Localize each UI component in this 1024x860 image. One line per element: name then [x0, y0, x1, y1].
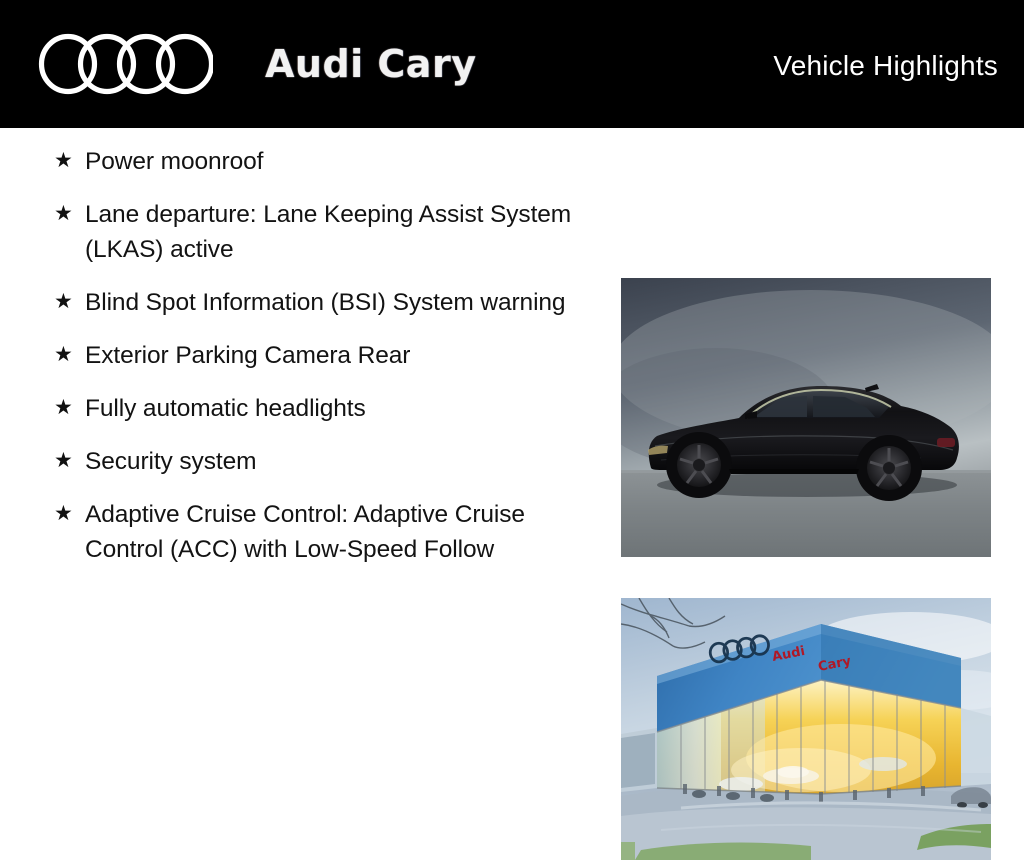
page-title: Vehicle Highlights — [773, 50, 998, 82]
star-bullet-icon: ★ — [54, 285, 85, 318]
feature-label: Adaptive Cruise Control: Adaptive Cruise… — [85, 497, 603, 567]
star-bullet-icon: ★ — [54, 144, 85, 177]
feature-label: Fully automatic headlights — [85, 391, 603, 426]
dealer-brand-block: Audi Cary — [38, 27, 476, 101]
feature-list-item: ★Fully automatic headlights — [40, 391, 640, 426]
feature-list-item: ★Adaptive Cruise Control: Adaptive Cruis… — [40, 497, 640, 567]
feature-label: Exterior Parking Camera Rear — [85, 338, 603, 373]
dealership-exterior-photo: Audi Cary — [621, 598, 991, 860]
feature-label: Power moonroof — [85, 144, 603, 179]
page-content: ★Power moonroof★Lane departure: Lane Kee… — [0, 128, 1024, 768]
feature-list-item: ★Power moonroof — [40, 144, 640, 179]
feature-list-item: ★Security system — [40, 444, 640, 479]
vehicle-highlights-list: ★Power moonroof★Lane departure: Lane Kee… — [0, 128, 640, 585]
feature-list-item: ★Blind Spot Information (BSI) System war… — [40, 285, 640, 320]
feature-label: Lane departure: Lane Keeping Assist Syst… — [85, 197, 603, 267]
vehicle-side-profile-photo — [621, 278, 991, 557]
star-bullet-icon: ★ — [54, 391, 85, 424]
feature-label: Blind Spot Information (BSI) System warn… — [85, 285, 603, 320]
page-header: Audi Cary Vehicle Highlights — [0, 0, 1024, 128]
audi-four-rings-icon — [38, 33, 213, 95]
star-bullet-icon: ★ — [54, 197, 85, 230]
dealer-name: Audi Cary — [265, 42, 476, 86]
feature-label: Security system — [85, 444, 603, 479]
feature-list-item: ★Exterior Parking Camera Rear — [40, 338, 640, 373]
star-bullet-icon: ★ — [54, 338, 85, 371]
feature-list-item: ★Lane departure: Lane Keeping Assist Sys… — [40, 197, 640, 267]
star-bullet-icon: ★ — [54, 444, 85, 477]
star-bullet-icon: ★ — [54, 497, 85, 530]
